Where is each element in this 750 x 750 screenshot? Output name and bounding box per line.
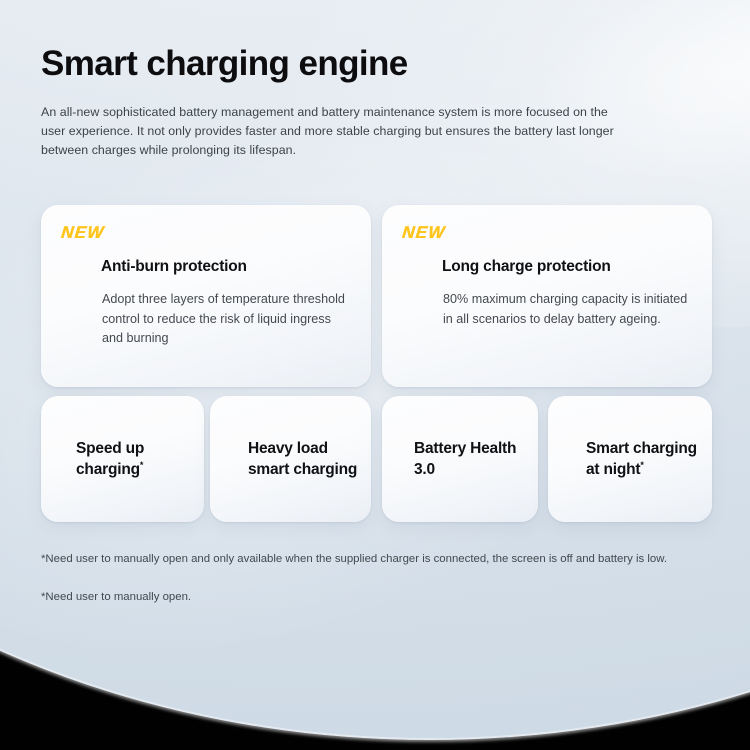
small-card-title-text: Speed up charging	[76, 440, 144, 478]
small-card-heavy-load-smart-charging: Heavy load smart charging	[210, 396, 371, 522]
page-intro-paragraph: An all-new sophisticated battery managem…	[41, 103, 616, 160]
promo-poster: Smart charging engine An all-new sophist…	[0, 0, 750, 750]
asterisk-marker: *	[140, 460, 143, 470]
small-card-title: Battery Health 3.0	[414, 438, 530, 480]
new-badge: NEW	[60, 223, 105, 243]
small-card-title: Heavy load smart charging	[248, 438, 360, 480]
feature-card-anti-burn: NEW Anti-burn protection Adopt three lay…	[41, 205, 371, 387]
small-card-smart-charging-at-night: Smart charging at night*	[548, 396, 712, 522]
poster-content: Smart charging engine An all-new sophist…	[0, 0, 750, 750]
small-card-speed-up-charging: Speed up charging*	[41, 396, 204, 522]
small-card-title-text: Heavy load smart charging	[248, 440, 357, 478]
feature-card-heading: Anti-burn protection	[101, 258, 247, 276]
feature-card-body: Adopt three layers of temperature thresh…	[102, 290, 347, 349]
feature-card-long-charge: NEW Long charge protection 80% maximum c…	[382, 205, 712, 387]
small-card-title: Speed up charging*	[76, 438, 194, 480]
small-card-title-text: Battery Health 3.0	[414, 440, 516, 478]
small-card-battery-health: Battery Health 3.0	[382, 396, 538, 522]
page-title: Smart charging engine	[41, 42, 408, 86]
feature-card-body: 80% maximum charging capacity is initiat…	[443, 290, 688, 329]
footnote-primary: *Need user to manually open and only ava…	[41, 551, 709, 568]
asterisk-marker: *	[640, 460, 643, 470]
footnote-secondary: *Need user to manually open.	[41, 589, 709, 606]
small-card-title: Smart charging at night*	[586, 438, 704, 480]
new-badge: NEW	[401, 223, 446, 243]
feature-card-heading: Long charge protection	[442, 258, 611, 276]
